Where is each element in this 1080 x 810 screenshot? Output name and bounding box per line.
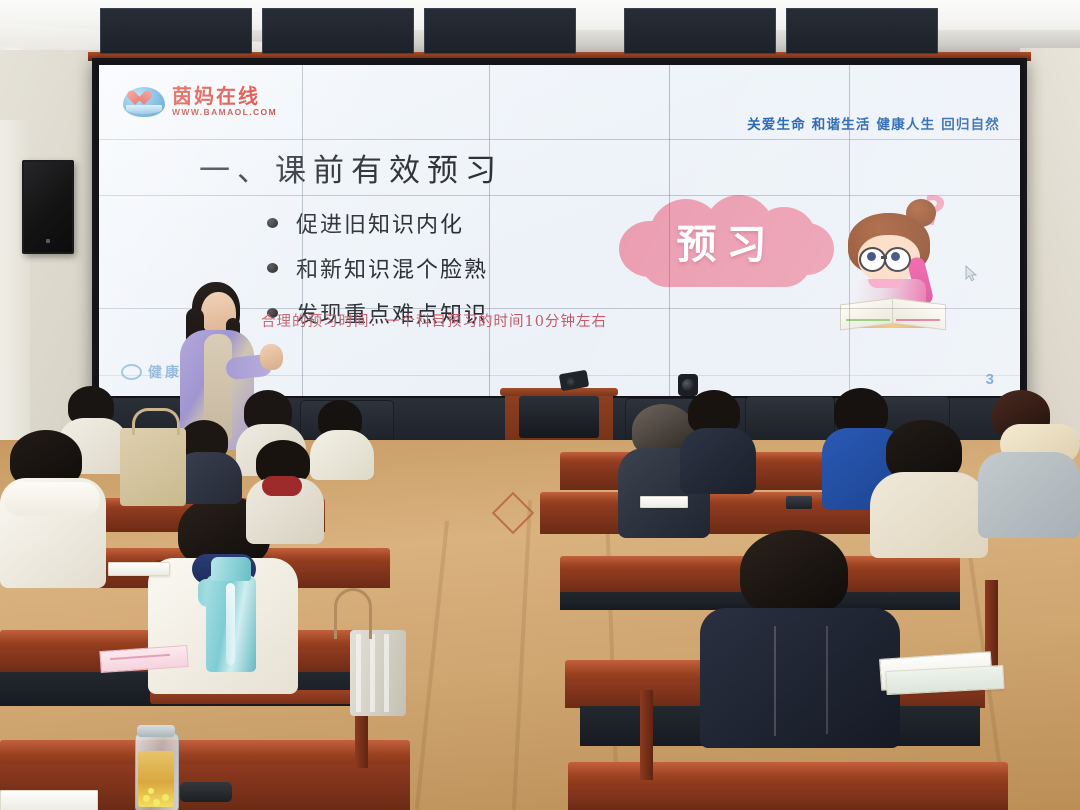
- podium-monitor: [519, 396, 599, 438]
- paper-sheet: [0, 790, 98, 810]
- slide-brand: 茵妈在线 WWW.BAMAOL.COM: [123, 85, 277, 118]
- audience-member: [700, 530, 900, 740]
- dais-panel: [786, 8, 938, 54]
- panel-seam: [669, 65, 670, 396]
- pink-cloud-graphic: 预习: [619, 195, 834, 287]
- handbag: [120, 428, 186, 506]
- audience-member: [246, 440, 324, 536]
- panel-seam: [99, 195, 1020, 196]
- brand-name: 茵妈在线: [172, 86, 277, 106]
- glass-tea-tumbler: [131, 725, 181, 810]
- panel-seam: [99, 139, 1020, 140]
- handbag-stripe: [356, 634, 361, 712]
- wall-speaker: [22, 160, 74, 254]
- classroom-photo-scene: 茵妈在线 WWW.BAMAOL.COM 关爱生命 和谐生活 健康人生 回归自然 …: [0, 0, 1080, 810]
- slide-note: 合理的预习时间：一个科目预习的时间10分钟左右: [261, 310, 607, 331]
- slide-slogan: 关爱生命 和谐生活 健康人生 回归自然: [747, 113, 1000, 133]
- podium-top: [500, 388, 618, 396]
- panel-seam: [849, 65, 850, 396]
- paper-sheet: [108, 562, 170, 576]
- handbag-handle: [334, 588, 372, 639]
- panel-seam: [489, 65, 490, 396]
- audience-member: [680, 390, 756, 486]
- bullet-dot-icon: [267, 263, 278, 273]
- paper-sheet: [640, 496, 688, 508]
- handbag-handle: [132, 408, 180, 435]
- desk: [568, 762, 1008, 788]
- bullet-text: 和新知识混个脸熟: [296, 252, 488, 284]
- audience-member: [0, 430, 106, 580]
- dais-panel: [424, 8, 576, 54]
- list-item: 和新知识混个脸熟: [267, 252, 488, 284]
- audience-member: [978, 390, 1080, 530]
- heart-shield-logo-icon: [123, 85, 165, 118]
- dais-panel: [100, 8, 252, 54]
- handbag-stripe: [384, 634, 389, 712]
- list-item: 促进旧知识内化: [267, 207, 488, 239]
- jacket-seam: [774, 626, 776, 736]
- handbag-stripe: [370, 634, 375, 712]
- dais-panel: [624, 8, 776, 54]
- teal-thermos: [200, 557, 262, 672]
- presenter-hand: [260, 344, 283, 370]
- slide-page-number: 3: [986, 371, 994, 388]
- bullet-dot-icon: [267, 218, 278, 228]
- bullet-text: 促进旧知识内化: [296, 207, 464, 239]
- panel-seam: [302, 65, 303, 396]
- cloud-label: 预习: [619, 195, 834, 287]
- desk-front: [568, 786, 1008, 810]
- watermark-ring-icon: [121, 364, 142, 380]
- dais-panel: [262, 8, 414, 54]
- phone: [786, 496, 812, 509]
- jacket-seam: [826, 626, 828, 734]
- desk-leg: [640, 690, 653, 780]
- slide-title: 一、课前有效预习: [199, 145, 503, 190]
- brand-url: WWW.BAMAOL.COM: [172, 108, 277, 117]
- desk: [0, 740, 410, 766]
- tumbler-base-ring: [180, 782, 232, 802]
- speaker-led-icon: [46, 239, 50, 243]
